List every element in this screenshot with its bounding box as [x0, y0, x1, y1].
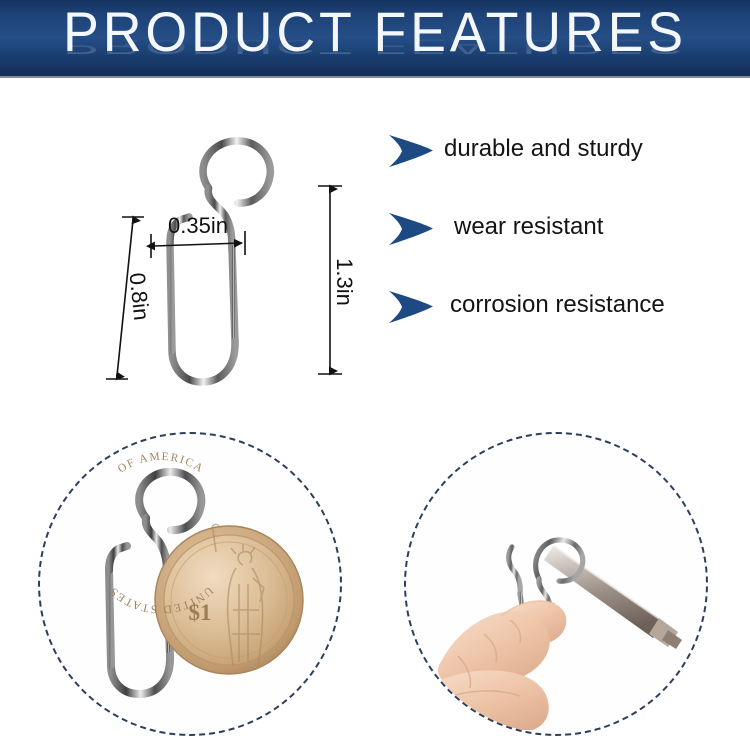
banner-divider	[0, 76, 750, 78]
size-comparison-photo: OF AMERICA UNITED STATES	[38, 432, 342, 736]
dimension-width-label: 0.35in	[168, 213, 228, 238]
metal-rod	[544, 546, 682, 649]
feature-item: corrosion resistance	[388, 284, 728, 362]
feature-label: corrosion resistance	[450, 286, 665, 324]
dimension-height-label: 1.3in	[332, 258, 357, 306]
page-title: PRODUCT FEATURES	[15, 2, 735, 62]
arrow-bullet-icon	[388, 212, 434, 246]
feature-label: durable and sturdy	[444, 130, 643, 168]
us-dollar-coin: OF AMERICA UNITED STATES	[107, 451, 303, 674]
in-hand-usage-photo	[404, 432, 708, 736]
dimension-depth-label: 0.8in	[124, 271, 154, 321]
hook-wire-illustration	[170, 141, 270, 382]
header-banner: PRODUCT FEATURES PRODUCT FEATURES	[0, 0, 750, 78]
feature-item: durable and sturdy	[388, 128, 728, 206]
hand	[418, 601, 567, 730]
coin-denomination: $1	[189, 600, 212, 625]
arrow-bullet-icon	[388, 290, 434, 324]
feature-list: durable and sturdy wear resistant corros…	[388, 128, 728, 362]
feature-item: wear resistant	[388, 206, 728, 284]
arrow-bullet-icon	[388, 134, 434, 168]
hook-dimension-diagram: 1.3in 0.8in 0.35in	[60, 86, 380, 391]
feature-label: wear resistant	[454, 208, 603, 246]
